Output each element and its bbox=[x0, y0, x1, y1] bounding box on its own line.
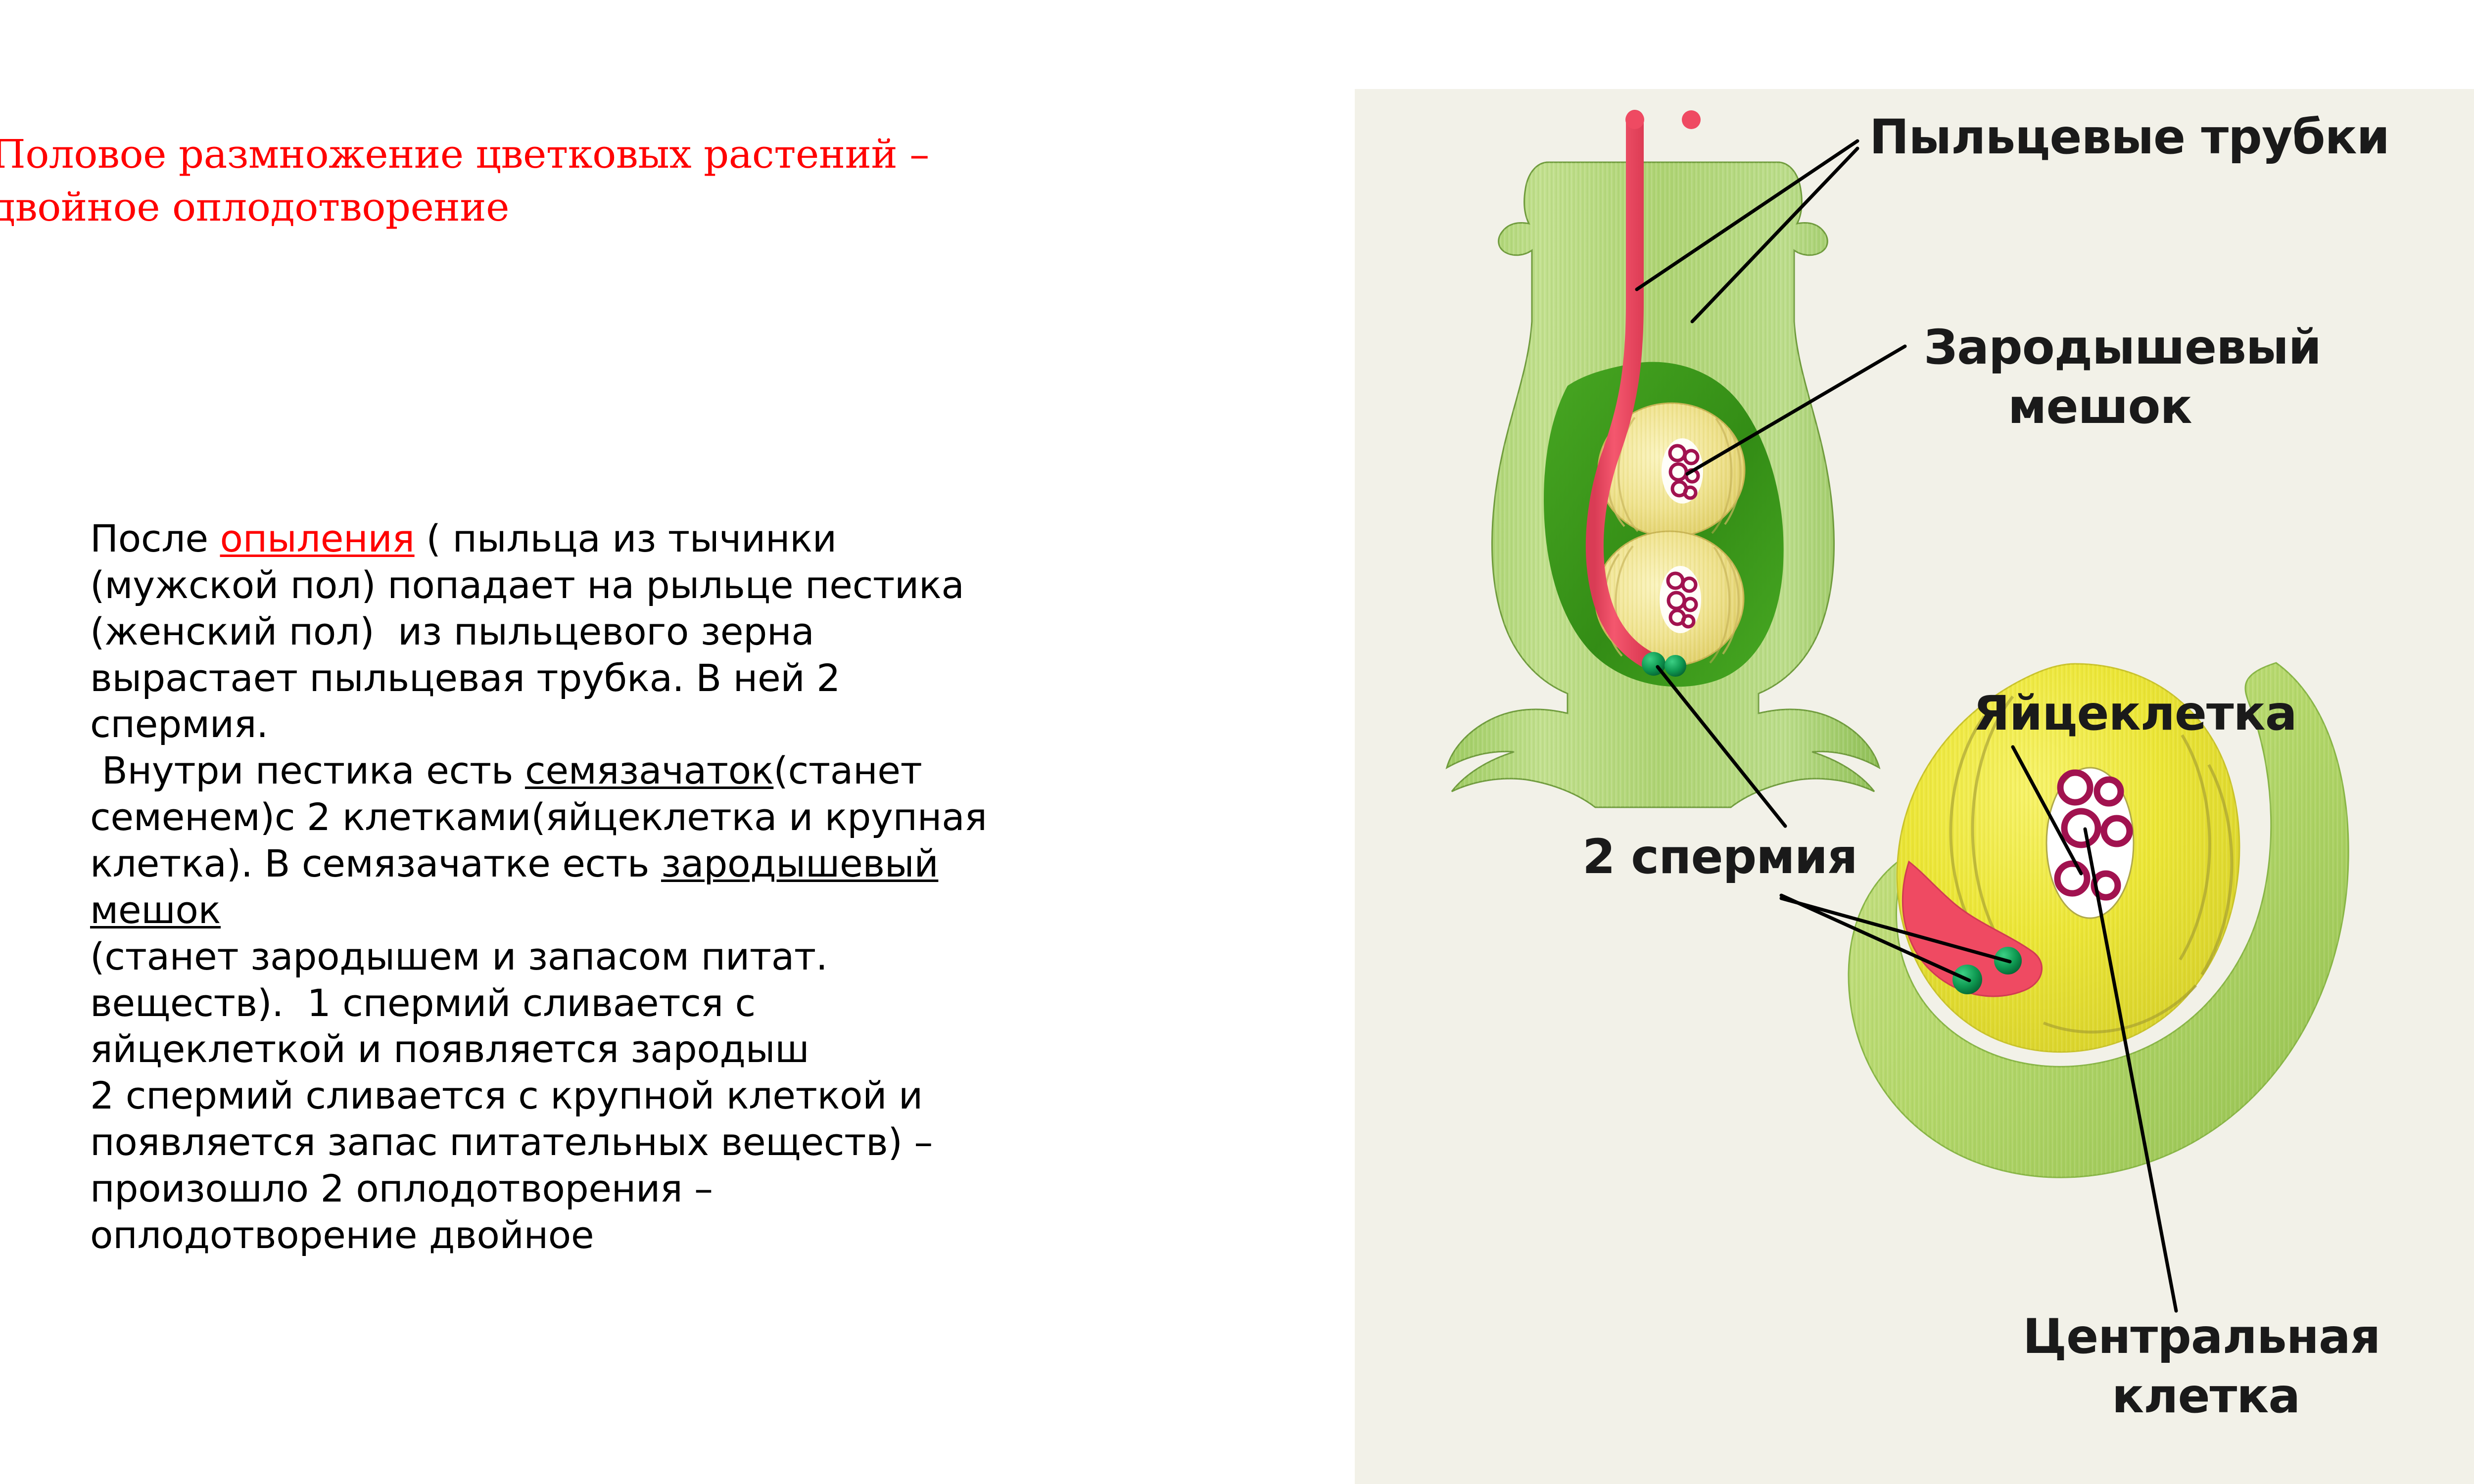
body-text-run: вырастает пыльцевая трубка. В ней 2 bbox=[90, 656, 840, 700]
double-fertilization-diagram: Пыльцевые трубки Зародышевый мешок 2 спе… bbox=[1355, 89, 2474, 1484]
slide-title: Половое размножение цветковых растений –… bbox=[0, 128, 1203, 233]
label-two-sperm: 2 спермия bbox=[1582, 829, 1857, 884]
body-line-l12: яйцеклеткой и появляется зародыш bbox=[90, 1026, 1337, 1072]
label-egg-cell: Яйцеклетка bbox=[1973, 686, 2297, 741]
label-embryo-sac-line2: мешок bbox=[2008, 379, 2192, 434]
body-text-run: оплодотворение двойное bbox=[90, 1213, 594, 1257]
body-text-run: произошло 2 оплодотворения – bbox=[90, 1166, 713, 1210]
body-line-l6: Внутри пестика есть семязачаток(станет bbox=[90, 747, 1337, 794]
body-term-highlight[interactable]: зародышевый bbox=[661, 841, 938, 885]
body-text-run: Внутри пестика есть bbox=[90, 748, 525, 792]
body-text-run: (мужской пол) попадает на рыльце пестика bbox=[90, 563, 964, 607]
body-term-highlight[interactable]: опыления bbox=[220, 516, 415, 560]
body-text-run: (станет зародышем и запасом питат. bbox=[90, 934, 828, 978]
body-term-highlight[interactable]: семязачаток bbox=[525, 748, 773, 792]
body-text-run: семенем)с 2 клетками(яйцеклетка и крупна… bbox=[90, 795, 987, 839]
body-term-highlight[interactable]: мешок bbox=[90, 888, 221, 932]
body-text-run: клетка). В семязачатке есть bbox=[90, 841, 661, 885]
body-text-run: 2 спермий сливается с крупной клеткой и bbox=[90, 1073, 923, 1117]
body-text-run: спермия. bbox=[90, 702, 268, 746]
body-line-l3: (женский пол) из пыльцевого зерна bbox=[90, 608, 1337, 655]
body-line-l2: (мужской пол) попадает на рыльце пестика bbox=[90, 562, 1337, 608]
label-embryo-sac-line1: Зародышевый bbox=[1924, 320, 2321, 375]
body-paragraph: После опыления ( пыльца из тычинки(мужск… bbox=[90, 515, 1337, 1258]
body-line-l16: оплодотворение двойное bbox=[90, 1212, 1337, 1258]
body-text-run: (женский пол) из пыльцевого зерна bbox=[90, 609, 814, 653]
body-text-run: ( пыльца из тычинки bbox=[415, 516, 837, 560]
body-text-run: появляется запас питательных веществ) – bbox=[90, 1120, 933, 1164]
body-text-run: веществ). 1 спермий сливается с bbox=[90, 981, 756, 1025]
body-line-l11: веществ). 1 спермий сливается с bbox=[90, 980, 1337, 1026]
pistil-illustration bbox=[1447, 110, 1879, 807]
body-text-run: (станет bbox=[773, 748, 922, 792]
body-line-l8: клетка). В семязачатке есть зародышевый bbox=[90, 840, 1337, 887]
body-line-l14: появляется запас питательных веществ) – bbox=[90, 1119, 1337, 1165]
label-central-cell-line1: Центральная bbox=[2023, 1309, 2380, 1364]
body-line-l10: (станет зародышем и запасом питат. bbox=[90, 933, 1337, 980]
diagram-panel: Пыльцевые трубки Зародышевый мешок 2 спе… bbox=[1355, 89, 2474, 1484]
body-line-l9: мешок bbox=[90, 887, 1337, 933]
body-line-l13: 2 спермий сливается с крупной клеткой и bbox=[90, 1072, 1337, 1119]
label-central-cell-line2: клетка bbox=[2112, 1368, 2300, 1424]
body-text-run: яйцеклеткой и появляется зародыш bbox=[90, 1027, 809, 1071]
body-line-l1: После опыления ( пыльца из тычинки bbox=[90, 515, 1337, 562]
body-line-l7: семенем)с 2 клетками(яйцеклетка и крупна… bbox=[90, 794, 1337, 840]
body-line-l15: произошло 2 оплодотворения – bbox=[90, 1165, 1337, 1212]
body-line-l5: спермия. bbox=[90, 701, 1337, 747]
body-text-run: После bbox=[90, 516, 220, 560]
body-line-l4: вырастает пыльцевая трубка. В ней 2 bbox=[90, 655, 1337, 701]
label-pollen-tubes: Пыльцевые трубки bbox=[1869, 109, 2389, 165]
